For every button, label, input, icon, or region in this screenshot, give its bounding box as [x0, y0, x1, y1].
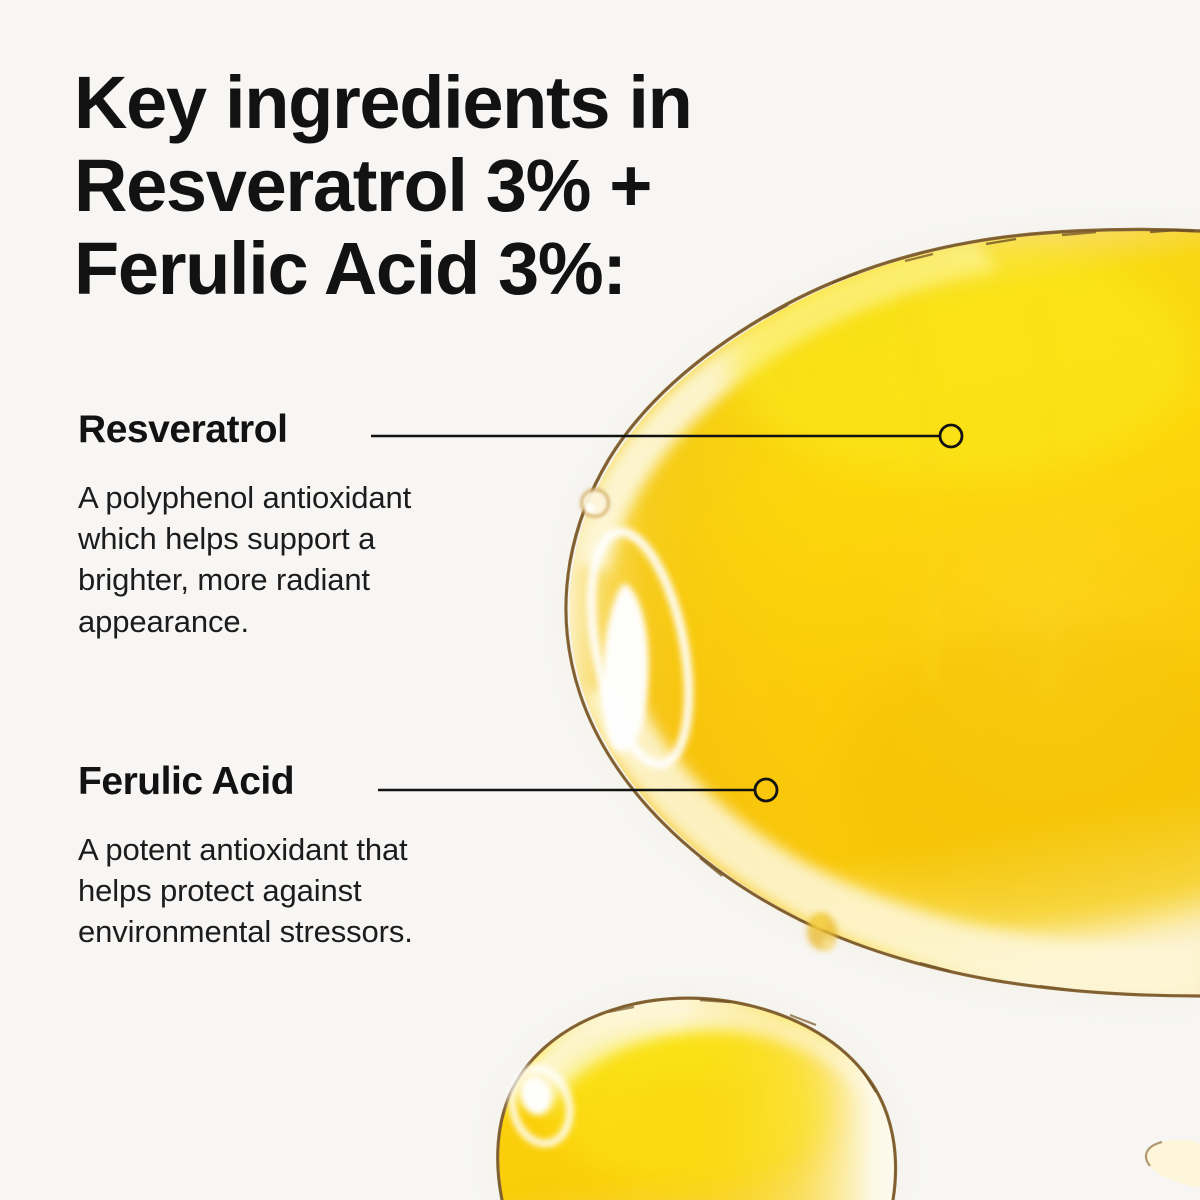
callout-resveratrol	[371, 425, 962, 447]
callout-marker-ferulic-acid	[755, 779, 777, 801]
callout-ferulic-acid	[378, 779, 777, 801]
callout-marker-resveratrol	[940, 425, 962, 447]
product-ingredient-infographic: Key ingredients in Resveratrol 3% + Feru…	[0, 0, 1200, 1200]
callout-lines	[0, 0, 1200, 1200]
